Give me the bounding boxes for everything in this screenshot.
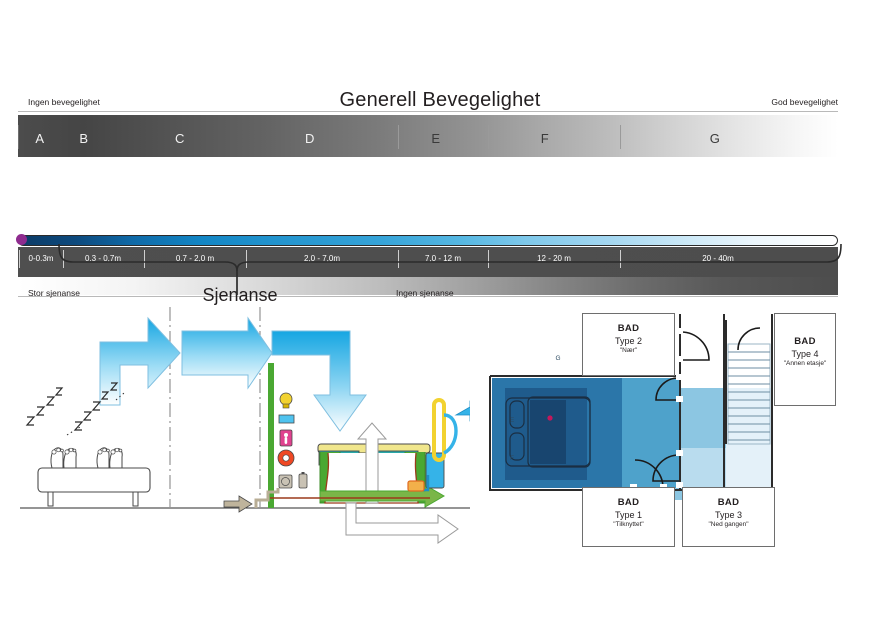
water-in-arrow	[456, 401, 470, 421]
basin-icon	[408, 481, 424, 491]
flow-arrow-1	[100, 318, 180, 405]
plan-zone-f: F	[510, 455, 514, 462]
bad-type-2-box[interactable]: BAD Type 2 "Nær"	[582, 313, 675, 376]
bad-type-1-head: BAD	[583, 497, 674, 508]
outlet-grey-icon	[279, 475, 292, 488]
scale-band-upper: A B C D E F G	[18, 115, 838, 157]
fixture-icons	[224, 393, 307, 512]
scale-letter-g: G	[710, 131, 721, 146]
plan-zone-e: E	[510, 417, 515, 424]
zone-a-fill	[530, 400, 566, 464]
flow-arrow-2	[182, 318, 272, 388]
bad-type-1-box[interactable]: BAD Type 1 "Tilknyttet"	[582, 487, 675, 547]
scale-tick	[398, 125, 399, 149]
scale-letter-b: B	[79, 131, 88, 146]
scale-tick	[488, 125, 489, 149]
bad-type-4-type: Type 4	[775, 349, 835, 359]
airflow-out-arrow	[346, 503, 458, 543]
lamp-icon	[280, 393, 292, 408]
shower-unit	[270, 400, 470, 543]
scale-tick	[18, 125, 19, 149]
hose-coil-icon	[278, 450, 294, 466]
bad-type-2-head: BAD	[583, 323, 674, 334]
mobility-scale: Generell Bevegelighet Ingen bevegelighet…	[0, 85, 880, 230]
socket-pink-icon	[280, 430, 292, 446]
bad-type-3-head: BAD	[683, 497, 774, 508]
scale-tick	[620, 125, 621, 149]
scale-letter-a: A	[35, 131, 44, 146]
bed-with-sleepers	[27, 383, 150, 506]
distance-a: 0-0.3m	[29, 254, 54, 263]
zone-g-fill	[726, 388, 772, 488]
bad-type-2-type: Type 2	[583, 336, 674, 346]
scale-letter-d: D	[305, 131, 315, 146]
proximity-zones	[492, 378, 772, 500]
zone-e-fill	[680, 388, 726, 448]
plug-arrow-icon	[224, 496, 252, 512]
yellow-panel	[434, 400, 444, 460]
bad-type-2-quote: "Nær"	[583, 347, 674, 354]
scale-letter-e: E	[431, 131, 440, 146]
bad-type-4-head: BAD	[775, 336, 835, 347]
distance-tick	[19, 250, 20, 268]
bad-type-4-box[interactable]: BAD Type 4 "Annen etasje"	[774, 313, 836, 406]
plan-zone-g: G	[555, 355, 560, 362]
origin-marker-dot	[16, 234, 27, 245]
bad-type-3-box[interactable]: BAD Type 3 "Ned gangen"	[682, 487, 775, 547]
bad-type-4-quote: "Annen etasje"	[775, 360, 835, 367]
origin-marker	[547, 415, 552, 420]
scale-letter-f: F	[541, 131, 549, 146]
diagram-canvas: Generell Bevegelighet Ingen bevegelighet…	[0, 0, 880, 623]
bad-type-1-type: Type 1	[583, 510, 674, 520]
scale-title: Generell Bevegelighet	[0, 89, 880, 112]
bad-type-3-type: Type 3	[683, 510, 774, 520]
scale-letter-c: C	[175, 131, 185, 146]
panel-icon	[279, 415, 294, 423]
section-illustration	[20, 295, 470, 555]
battery-icon	[299, 472, 307, 488]
scale-top-rule	[18, 111, 838, 112]
green-wall	[268, 363, 274, 508]
bad-type-1-quote: "Tilknyttet"	[583, 521, 674, 528]
grouping-brace	[55, 240, 845, 295]
bad-type-3-quote: "Ned gangen"	[683, 521, 774, 528]
scale-caption-right: God bevegelighet	[771, 97, 838, 107]
scale-caption-left: Ingen bevegelighet	[28, 97, 100, 107]
